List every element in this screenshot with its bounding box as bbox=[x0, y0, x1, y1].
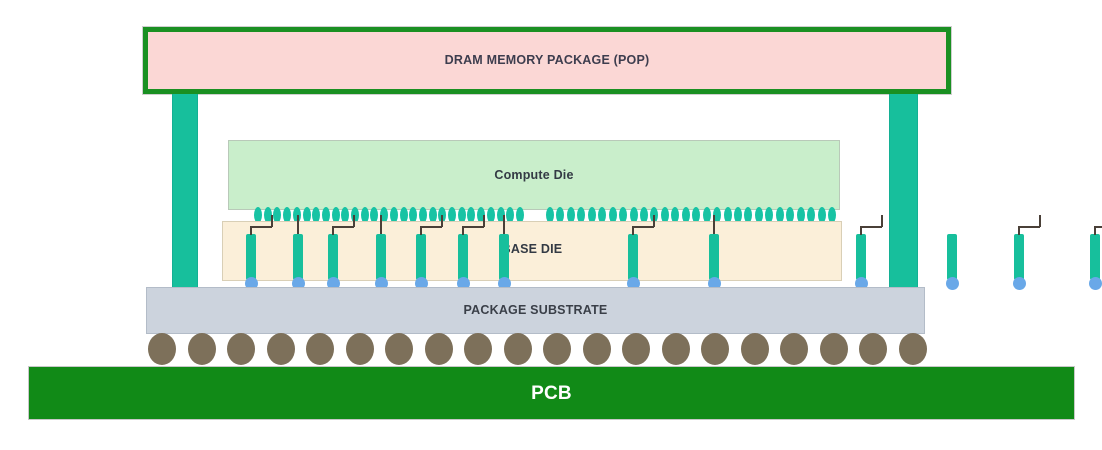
bga-solder-ball bbox=[583, 333, 611, 365]
tsv-wire-segment bbox=[441, 215, 443, 227]
bga-solder-ball bbox=[662, 333, 690, 365]
tsv-wire bbox=[297, 215, 299, 234]
tsv-pillar bbox=[246, 234, 256, 280]
c4-bump bbox=[1089, 277, 1102, 290]
bga-solder-ball bbox=[622, 333, 650, 365]
pop-support-pillar-right bbox=[889, 94, 918, 287]
pcb-board: PCB bbox=[28, 366, 1075, 420]
bga-solder-ball bbox=[741, 333, 769, 365]
package-substrate: PACKAGE SUBSTRATE bbox=[146, 287, 925, 334]
tsv-wire-segment bbox=[332, 226, 354, 228]
bga-solder-ball bbox=[306, 333, 334, 365]
tsv-pillar bbox=[1014, 234, 1024, 280]
bga-solder-ball bbox=[148, 333, 176, 365]
bga-solder-ball bbox=[504, 333, 532, 365]
bga-solder-ball bbox=[385, 333, 413, 365]
bga-solder-ball bbox=[188, 333, 216, 365]
tsv-pillar bbox=[709, 234, 719, 280]
tsv-wire-segment bbox=[632, 226, 654, 228]
tsv-wire-segment bbox=[653, 215, 655, 227]
bga-solder-ball bbox=[425, 333, 453, 365]
c4-bump bbox=[946, 277, 959, 290]
tsv-pillar bbox=[328, 234, 338, 280]
bga-solder-ball-row bbox=[146, 333, 925, 368]
tsv-pillar bbox=[293, 234, 303, 280]
bga-solder-ball bbox=[859, 333, 887, 365]
compute-die: Compute Die bbox=[228, 140, 840, 210]
tsv-wire-segment bbox=[271, 215, 273, 227]
tsv-wire-segment bbox=[881, 215, 883, 227]
tsv-pillar bbox=[628, 234, 638, 280]
bga-solder-ball bbox=[267, 333, 295, 365]
tsv-wire-segment bbox=[462, 226, 484, 228]
tsv-wire bbox=[380, 215, 382, 234]
bga-solder-ball bbox=[346, 333, 374, 365]
bga-solder-ball bbox=[780, 333, 808, 365]
tsv-pillar bbox=[416, 234, 426, 280]
dram-memory-package-label: DRAM MEMORY PACKAGE (POP) bbox=[148, 53, 946, 67]
package-cross-section-diagram: DRAM MEMORY PACKAGE (POP) Compute Die BA… bbox=[0, 0, 1102, 450]
tsv-wire bbox=[713, 215, 715, 234]
bga-solder-ball bbox=[701, 333, 729, 365]
tsv-wire-segment bbox=[420, 226, 442, 228]
tsv-wire-segment bbox=[483, 215, 485, 227]
compute-die-label: Compute Die bbox=[229, 168, 839, 182]
bga-solder-ball bbox=[227, 333, 255, 365]
tsv-pillar bbox=[376, 234, 386, 280]
bga-solder-ball bbox=[899, 333, 927, 365]
tsv-pillar bbox=[947, 234, 957, 280]
tsv-wire-segment bbox=[1018, 226, 1040, 228]
tsv-wire-segment bbox=[860, 226, 882, 228]
tsv-pillar bbox=[458, 234, 468, 280]
tsv-pillar bbox=[499, 234, 509, 280]
c4-bump bbox=[1013, 277, 1026, 290]
bga-solder-ball bbox=[464, 333, 492, 365]
bga-solder-ball bbox=[543, 333, 571, 365]
pcb-label: PCB bbox=[29, 383, 1074, 405]
pop-support-pillar-left bbox=[172, 94, 198, 287]
bga-solder-ball bbox=[820, 333, 848, 365]
package-substrate-label: PACKAGE SUBSTRATE bbox=[147, 303, 924, 317]
tsv-wire-segment bbox=[353, 215, 355, 227]
tsv-wire bbox=[503, 215, 505, 234]
tsv-wire-segment bbox=[250, 226, 272, 228]
tsv-wire-segment bbox=[1094, 226, 1102, 228]
dram-memory-package: DRAM MEMORY PACKAGE (POP) bbox=[143, 27, 951, 94]
tsv-layer bbox=[222, 221, 842, 293]
tsv-wire-segment bbox=[1039, 215, 1041, 227]
tsv-pillar bbox=[1090, 234, 1100, 280]
tsv-pillar bbox=[856, 234, 866, 280]
